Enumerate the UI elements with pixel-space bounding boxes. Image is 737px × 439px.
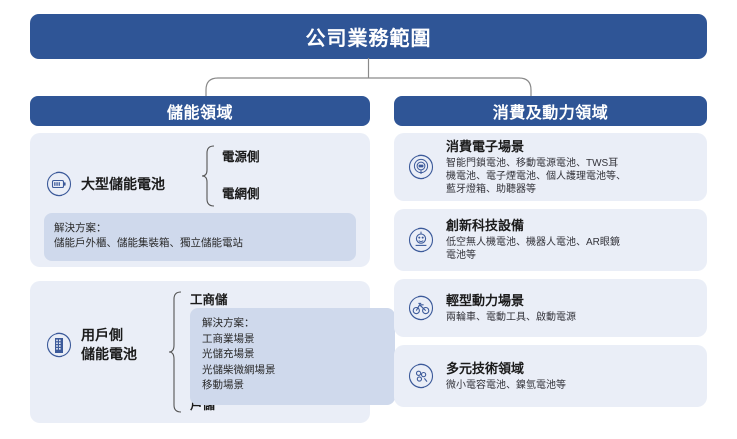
column-header-storage-label: 儲能領域: [167, 99, 233, 123]
consumer-card-light-power[interactable]: 輕型動力場景 兩輪車、電動工具、啟動電源: [394, 279, 707, 337]
multi-tech-texts: 多元技術領域 微小電容電池、鎳氫電池等: [446, 361, 566, 392]
consumer-card-multi-tech[interactable]: 多元技術領域 微小電容電池、鎳氫電池等: [394, 345, 707, 407]
large-battery-label: 大型儲能電池: [81, 175, 165, 194]
consumer-electronics-icon: [406, 152, 436, 182]
large-battery-label-block: 大型儲能電池: [44, 169, 165, 199]
column-header-consumer[interactable]: 消費及動力領域: [394, 96, 707, 126]
connector-lines: [0, 58, 737, 98]
column-header-consumer-label: 消費及動力領域: [493, 99, 609, 123]
innovative-tech-icon: [406, 225, 436, 255]
storage-group-large-battery[interactable]: 大型儲能電池 電源側 電網側 解決方案： 儲能戶外櫃、儲能集裝箱、獨立儲能電站: [30, 133, 370, 267]
branch-label-commercial-storage: 工商儲: [190, 289, 228, 308]
light-power-title: 輕型動力場景: [446, 293, 576, 309]
light-power-desc: 兩輪車、電動工具、啟動電源: [446, 311, 576, 324]
user-side-battery-icon: [44, 330, 74, 360]
innovative-tech-texts: 創新科技設備 低空無人機電池、機器人電池、AR眼鏡 電池等: [446, 218, 620, 262]
innovative-tech-title: 創新科技設備: [446, 218, 620, 234]
consumer-card-electronics[interactable]: 消費電子場景 智能門鎖電池、移動電源電池、TWS耳 機電池、電子煙電池、個人護理…: [394, 133, 707, 201]
branch-label-grid-side: 電網側: [222, 183, 260, 202]
consumer-electronics-texts: 消費電子場景 智能門鎖電池、移動電源電池、TWS耳 機電池、電子煙電池、個人護理…: [446, 139, 626, 196]
multi-tech-desc: 微小電容電池、鎳氫電池等: [446, 379, 566, 392]
storage-group-user-side-battery[interactable]: 用戶側 儲能電池 工商儲 戶儲 解決方案： 工商業場景 光儲充場景 光儲柴微網場…: [30, 281, 370, 423]
branch-bracket-large-battery: [201, 145, 217, 207]
column-header-storage[interactable]: 儲能領域: [30, 96, 370, 126]
large-battery-icon: [44, 169, 74, 199]
branch-bracket-user-side: [168, 291, 184, 413]
diagram-root: 公司業務範圍 儲能領域 消費及動力領域: [0, 0, 737, 439]
consumer-card-innovative-tech[interactable]: 創新科技設備 低空無人機電池、機器人電池、AR眼鏡 電池等: [394, 209, 707, 271]
page-title: 公司業務範圍: [306, 22, 432, 51]
innovative-tech-desc: 低空無人機電池、機器人電池、AR眼鏡 電池等: [446, 236, 620, 262]
solution-box-large-battery: 解決方案： 儲能戶外櫃、儲能集裝箱、獨立儲能電站: [44, 213, 356, 261]
consumer-electronics-desc: 智能門鎖電池、移動電源電池、TWS耳 機電池、電子煙電池、個人護理電池等、 藍牙…: [446, 157, 626, 196]
page-title-bar: 公司業務範圍: [30, 14, 707, 59]
multi-tech-title: 多元技術領域: [446, 361, 566, 377]
light-power-texts: 輕型動力場景 兩輪車、電動工具、啟動電源: [446, 293, 576, 324]
branch-label-power-side: 電源側: [222, 146, 260, 165]
consumer-electronics-title: 消費電子場景: [446, 139, 626, 155]
user-side-battery-label-block: 用戶側 儲能電池: [44, 326, 137, 364]
user-side-battery-label: 用戶側 儲能電池: [81, 326, 137, 364]
light-power-icon: [406, 293, 436, 323]
solution-box-user-side: 解決方案： 工商業場景 光儲充場景 光儲柴微網場景 移動場景: [190, 308, 395, 405]
multi-tech-icon: [406, 361, 436, 391]
